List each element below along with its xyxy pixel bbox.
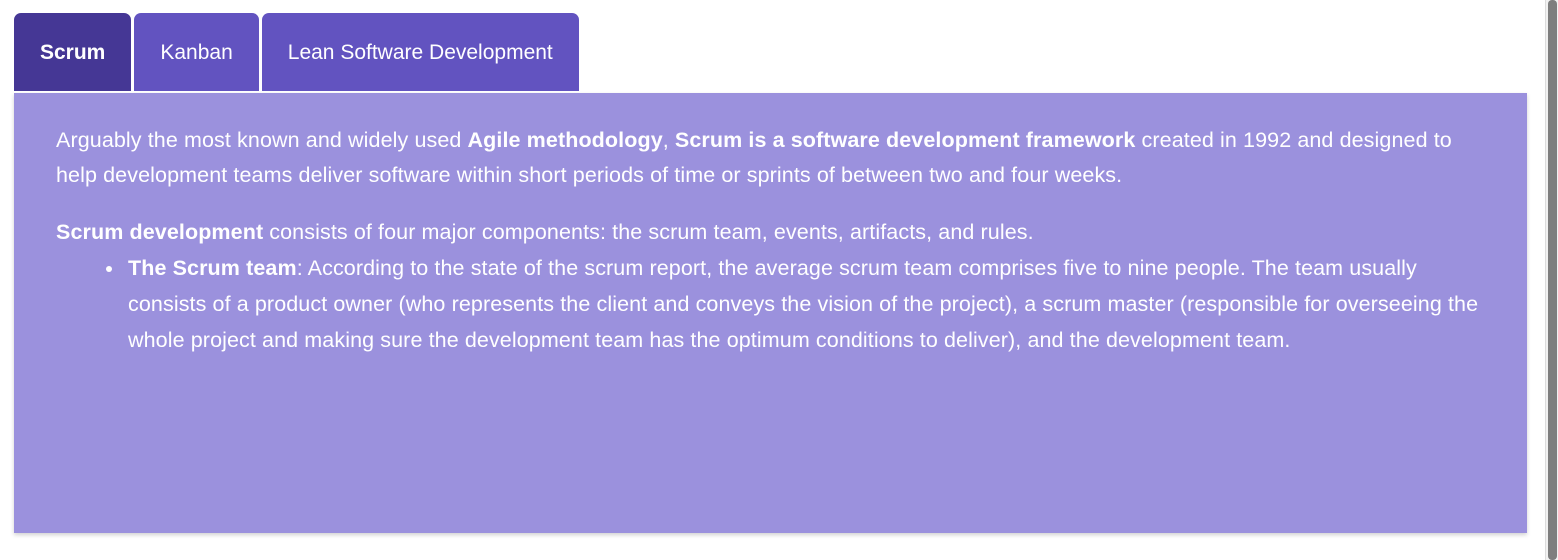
body-text: : According to the state of the scrum re… bbox=[128, 256, 1478, 352]
tab-label: Lean Software Development bbox=[288, 42, 553, 63]
paragraph: Arguably the most known and widely used … bbox=[56, 123, 1487, 193]
emphasis-text: Agile methodology bbox=[468, 128, 663, 152]
body-text: Arguably the most known and widely used bbox=[56, 128, 468, 152]
tab-panel-content: Arguably the most known and widely used … bbox=[14, 93, 1527, 533]
tab-scrum[interactable]: Scrum bbox=[14, 13, 131, 91]
page-scrollbar-thumb[interactable] bbox=[1548, 0, 1557, 560]
emphasis-text: Scrum development bbox=[56, 220, 263, 244]
methodology-tabs-widget: ScrumKanbanLean Software Development Arg… bbox=[0, 0, 1545, 560]
body-text: consists of four major components: the s… bbox=[263, 220, 1033, 244]
list-item: The Scrum team: According to the state o… bbox=[106, 250, 1487, 358]
emphasis-text: The Scrum team bbox=[128, 256, 297, 280]
page-scrollbar[interactable] bbox=[1545, 0, 1558, 560]
tab-bar: ScrumKanbanLean Software Development bbox=[14, 13, 579, 91]
panel-bullet-list: The Scrum team: According to the state o… bbox=[56, 250, 1487, 358]
tab-label: Kanban bbox=[160, 42, 232, 63]
emphasis-text: Scrum is a software development framewor… bbox=[675, 128, 1136, 152]
tab-kanban[interactable]: Kanban bbox=[134, 13, 258, 91]
tab-lean-software-development[interactable]: Lean Software Development bbox=[262, 13, 579, 91]
tab-label: Scrum bbox=[40, 42, 105, 63]
panel-paragraphs: Arguably the most known and widely used … bbox=[56, 123, 1487, 250]
body-text: , bbox=[663, 128, 675, 152]
paragraph: Scrum development consists of four major… bbox=[56, 215, 1487, 250]
